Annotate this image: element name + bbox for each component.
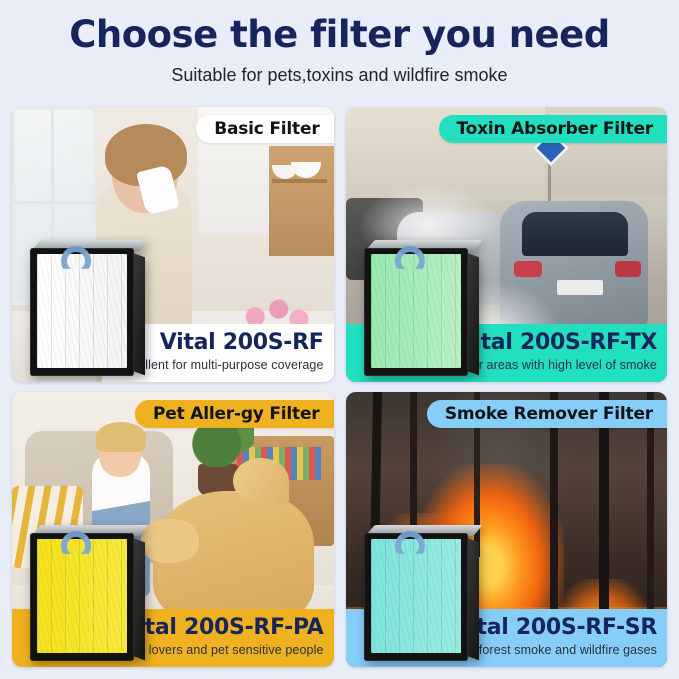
filter-card-smoke-remover[interactable]: Smoke Remover Filter Vital 200S-RF-SR Fo…: [346, 392, 668, 667]
badge-pet-allergy-filter[interactable]: Pet Aller-gy Filter: [135, 400, 334, 428]
badge-toxin-absorber-filter[interactable]: Toxin Absorber Filter: [439, 115, 667, 143]
product-filter-toxin: [364, 248, 468, 376]
filter-card-toxin-absorber[interactable]: Toxin Absorber Filter Vital 200S-RF-TX F…: [346, 107, 668, 382]
page-subtitle: Suitable for pets,toxins and wildfire sm…: [0, 65, 679, 86]
filter-card-grid: Basic Filter Vital 200S-RF Excellent for…: [12, 107, 667, 667]
product-filter-basic: [30, 248, 134, 376]
filter-handle-icon: [61, 531, 91, 561]
page-header: Choose the filter you need Suitable for …: [0, 0, 679, 86]
product-filter-smoke: [364, 533, 468, 661]
filter-handle-icon: [395, 246, 425, 276]
filter-card-pet-allergy[interactable]: Pet Aller-gy Filter Vital 200S-RF-PA For…: [12, 392, 334, 667]
badge-smoke-remover-filter[interactable]: Smoke Remover Filter: [427, 400, 667, 428]
product-filter-pet: [30, 533, 134, 661]
filter-handle-icon: [395, 531, 425, 561]
filter-handle-icon: [61, 246, 91, 276]
filter-card-basic[interactable]: Basic Filter Vital 200S-RF Excellent for…: [12, 107, 334, 382]
page-title: Choose the filter you need: [0, 16, 679, 55]
badge-basic-filter[interactable]: Basic Filter: [196, 115, 333, 143]
